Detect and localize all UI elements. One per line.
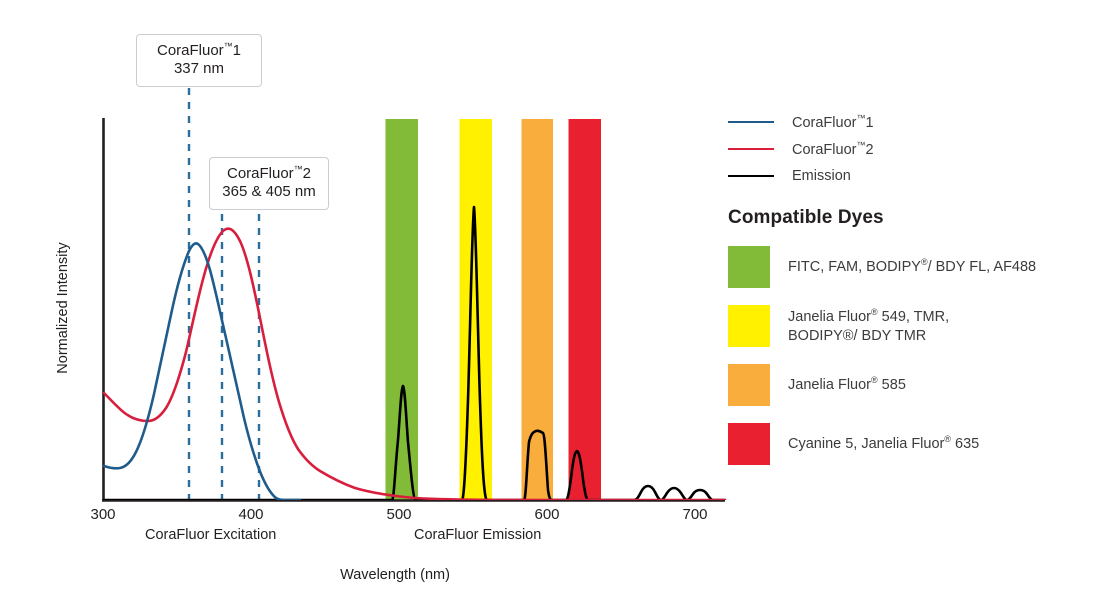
line-swatch-icon	[728, 175, 774, 177]
band-green	[386, 119, 419, 500]
callout-cf2-index: 2	[303, 165, 311, 182]
dye-item-red[interactable]: Cyanine 5, Janelia Fluor® 635	[728, 423, 1100, 465]
callout-cf2-name: CoraFluor	[227, 165, 294, 182]
callout-cf2-value: 365 & 405 nm	[220, 183, 318, 201]
emission-bands	[386, 119, 602, 500]
line-swatch-icon	[728, 121, 774, 123]
y-axis-label: Normalized Intensity	[55, 213, 71, 403]
compatible-dyes-heading: Compatible Dyes	[728, 207, 1100, 229]
legend-item-emission[interactable]: Emission	[728, 162, 1100, 189]
dye-item-orange[interactable]: Janelia Fluor® 585	[728, 364, 1100, 406]
legend-item-corafluor1[interactable]: CoraFluor™1	[728, 108, 1100, 135]
dye-label-green: FITC, FAM, BODIPY®/ BDY FL, AF488	[788, 256, 1036, 277]
trademark-symbol: ™	[224, 41, 233, 51]
legend-label-emission: Emission	[792, 168, 851, 184]
dye-item-green[interactable]: FITC, FAM, BODIPY®/ BDY FL, AF488	[728, 246, 1100, 288]
color-swatch-green	[728, 246, 770, 288]
x-tick-400: 400	[221, 506, 281, 523]
legend-label-corafluor2: CoraFluor™2	[792, 140, 874, 158]
registered-symbol: ®	[921, 257, 928, 267]
region-label-excitation: CoraFluor Excitation	[145, 527, 276, 543]
band-red	[569, 119, 602, 500]
callout-cf1-name: CoraFluor	[157, 42, 224, 59]
legend-panel: CoraFluor™1 CoraFluor™2 Emission Compati…	[728, 108, 1100, 465]
region-label-emission: CoraFluor Emission	[414, 527, 541, 543]
callout-corafluor1: CoraFluor™1 337 nm	[136, 34, 262, 87]
registered-symbol: ®	[871, 375, 878, 385]
line-swatch-icon	[728, 148, 774, 150]
color-swatch-orange	[728, 364, 770, 406]
dye-item-yellow[interactable]: Janelia Fluor® 549, TMR,BODIPY®/ BDY TMR	[728, 305, 1100, 347]
band-yellow	[460, 119, 493, 500]
x-tick-700: 700	[665, 506, 725, 523]
legend-item-corafluor2[interactable]: CoraFluor™2	[728, 135, 1100, 162]
x-tick-300: 300	[73, 506, 133, 523]
callout-cf1-index: 1	[233, 42, 241, 59]
band-orange	[522, 119, 554, 500]
callout-cf1-value: 337 nm	[147, 60, 251, 78]
color-swatch-red	[728, 423, 770, 465]
dye-label-orange: Janelia Fluor® 585	[788, 374, 906, 395]
dye-label-yellow: Janelia Fluor® 549, TMR,BODIPY®/ BDY TMR	[788, 306, 949, 347]
x-axis-label: Wavelength (nm)	[0, 567, 790, 583]
dye-label-yellow-line2: BODIPY®/ BDY TMR	[788, 328, 926, 344]
x-tick-600: 600	[517, 506, 577, 523]
registered-symbol: ®	[871, 307, 878, 317]
trademark-symbol: ™	[294, 164, 303, 174]
x-tick-500: 500	[369, 506, 429, 523]
callout-corafluor2: CoraFluor™2 365 & 405 nm	[209, 157, 329, 210]
color-swatch-yellow	[728, 305, 770, 347]
legend-label-corafluor1: CoraFluor™1	[792, 113, 874, 131]
dye-label-red: Cyanine 5, Janelia Fluor® 635	[788, 433, 979, 454]
